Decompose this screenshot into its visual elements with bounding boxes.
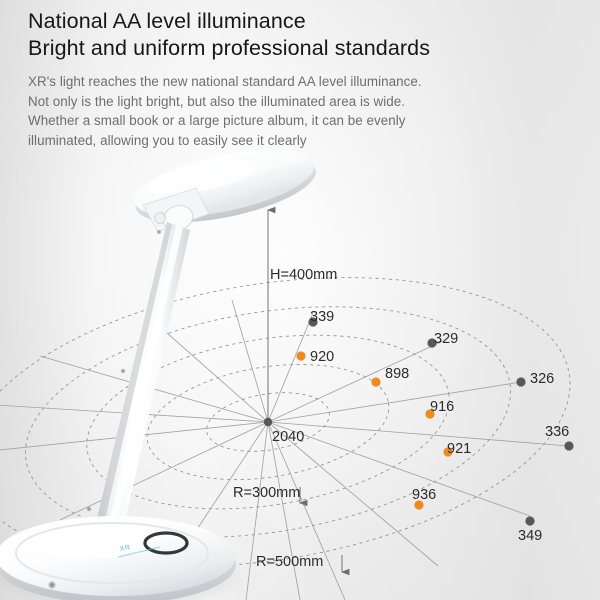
datapoint-center-2040 (264, 418, 272, 426)
body-line-2: Not only is the light bright, but also t… (28, 92, 588, 112)
header-block: National AA level illuminance Bright and… (28, 8, 588, 150)
datapoint-898 (371, 377, 380, 386)
label-datapoint-336: 336 (545, 425, 569, 440)
spoke-4 (232, 300, 268, 422)
spoke-15 (268, 422, 530, 516)
label-datapoint-329: 329 (434, 332, 458, 347)
datapoint-336 (564, 441, 573, 450)
label-datapoint-349: 349 (518, 529, 542, 544)
spoke-13 (268, 422, 345, 600)
label-center-2040: 2040 (272, 430, 304, 445)
spoke-5 (150, 318, 268, 422)
ring-500mm (0, 238, 591, 600)
label-height-400mm: H=400mm (270, 268, 337, 283)
label-radius-500mm: R=500mm (256, 555, 323, 570)
label-datapoint-920: 920 (310, 350, 334, 365)
body-line-1: XR's light reaches the new national stan… (28, 72, 588, 92)
spoke-8 (0, 422, 268, 452)
body-copy: XR's light reaches the new national stan… (28, 72, 588, 150)
spoke-1 (268, 382, 521, 422)
spoke-9 (60, 422, 268, 520)
spoke-2 (268, 341, 443, 422)
spoke-11 (246, 422, 268, 600)
datapoint-326 (516, 377, 525, 386)
datapoint-920 (296, 351, 305, 360)
datapoint-349 (525, 516, 534, 525)
body-line-3: Whether a small book or a large picture … (28, 111, 588, 131)
spoke-6 (40, 356, 268, 422)
spoke-3 (268, 313, 313, 422)
ring-group (0, 238, 591, 600)
page-title-line-2: Bright and uniform professional standard… (28, 35, 588, 62)
label-radius-300mm: R=300mm (233, 486, 300, 501)
body-line-4: illuminated, allowing you to easily see … (28, 131, 588, 151)
spoke-12 (268, 422, 300, 600)
datapoint-group-outer (308, 317, 573, 525)
label-datapoint-339: 339 (310, 310, 334, 325)
label-datapoint-916: 916 (430, 400, 454, 415)
label-datapoint-326: 326 (530, 372, 554, 387)
illuminance-infographic: National AA level illuminance Bright and… (0, 0, 600, 600)
label-datapoint-936: 936 (412, 488, 436, 503)
spoke-0 (268, 422, 569, 446)
label-datapoint-898: 898 (385, 367, 409, 382)
label-datapoint-921: 921 (447, 442, 471, 457)
page-title-line-1: National AA level illuminance (28, 8, 588, 35)
